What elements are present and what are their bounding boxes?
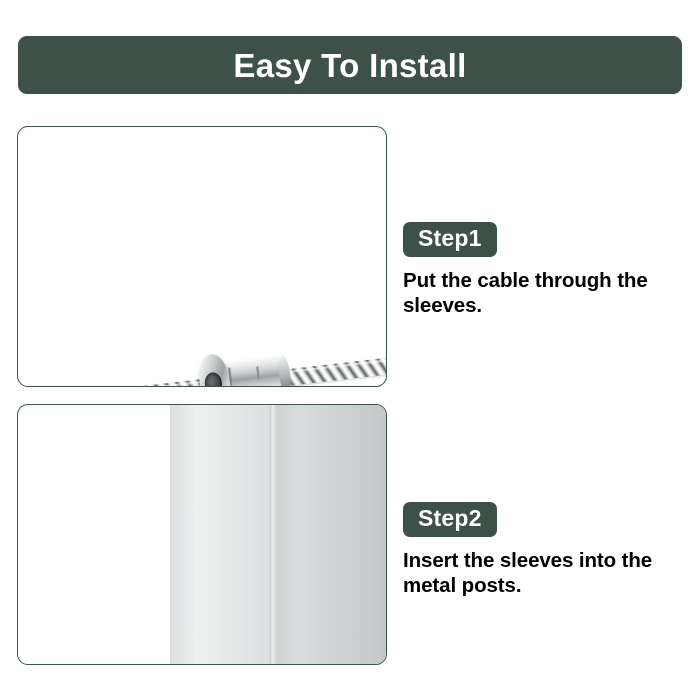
step-2-badge: Step2 xyxy=(403,502,497,537)
step-1-badge: Step1 xyxy=(403,222,497,257)
scene-cable-into-post xyxy=(18,405,386,664)
sleeve-end-cap xyxy=(277,355,293,386)
scene-cable-with-sleeve xyxy=(18,127,386,386)
step-1-description: Put the cable through the sleeves. xyxy=(403,268,671,318)
metal-post-seam xyxy=(270,405,277,664)
step-2-text-block: Step2 Insert the sleeves into the metal … xyxy=(403,502,671,598)
cable-sleeve xyxy=(181,344,299,386)
metal-post-side xyxy=(277,405,386,664)
step-1-text-block: Step1 Put the cable through the sleeves. xyxy=(403,222,671,318)
metal-post-shading xyxy=(170,405,196,664)
step-1-illustration-panel xyxy=(17,126,387,387)
header-banner: Easy To Install xyxy=(18,36,682,94)
page-title: Easy To Install xyxy=(233,49,466,82)
step-2-illustration-panel xyxy=(17,404,387,665)
step-2-description: Insert the sleeves into the metal posts. xyxy=(403,548,671,598)
